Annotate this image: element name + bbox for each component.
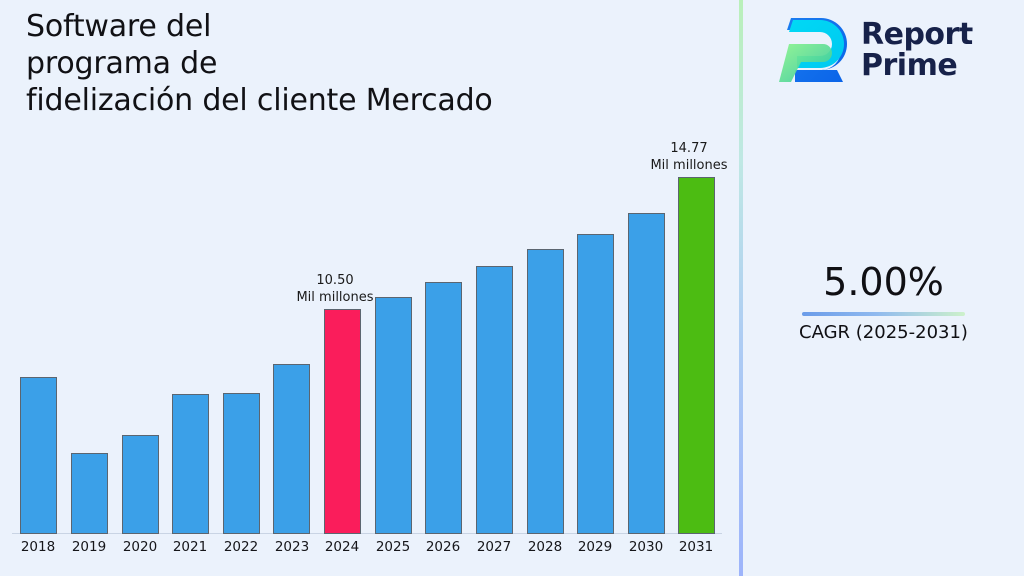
bar-value-label-2031: 14.77 Mil millones — [619, 140, 759, 174]
bar-2020[interactable] — [122, 435, 159, 534]
bar-chart-plot: 10.50 Mil millones 14.77 Mil millones 20… — [0, 0, 739, 576]
brand-logo[interactable]: Report Prime — [777, 12, 973, 88]
cagr-block: 5.00% CAGR (2025-2031) — [743, 258, 1024, 345]
bar-2026[interactable] — [425, 282, 462, 534]
bar-2031[interactable] — [678, 177, 715, 534]
bar-2022[interactable] — [223, 393, 260, 534]
info-panel: Report Prime 5.00% CAGR (2025-2031) — [743, 0, 1024, 576]
bar-2030[interactable] — [628, 213, 665, 534]
bar-2029[interactable] — [577, 234, 614, 534]
bar-2023[interactable] — [273, 364, 310, 534]
bar-2018[interactable] — [20, 377, 57, 534]
x-tick-2031: 2031 — [666, 539, 726, 555]
bar-2028[interactable] — [527, 249, 564, 534]
bar-2019[interactable] — [71, 453, 108, 534]
bar-2021[interactable] — [172, 394, 209, 534]
report-prime-r-logo-icon — [777, 12, 851, 88]
cagr-divider-rule — [802, 312, 965, 316]
chart-panel: Software del programa de fidelización de… — [0, 0, 739, 576]
bar-2027[interactable] — [476, 266, 513, 534]
cagr-label: CAGR (2025-2031) — [743, 321, 1024, 345]
bar-2025[interactable] — [375, 297, 412, 534]
x-axis-line — [12, 533, 722, 534]
bar-2024[interactable] — [324, 309, 361, 534]
brand-name: Report Prime — [861, 19, 973, 81]
cagr-value: 5.00% — [743, 258, 1024, 306]
